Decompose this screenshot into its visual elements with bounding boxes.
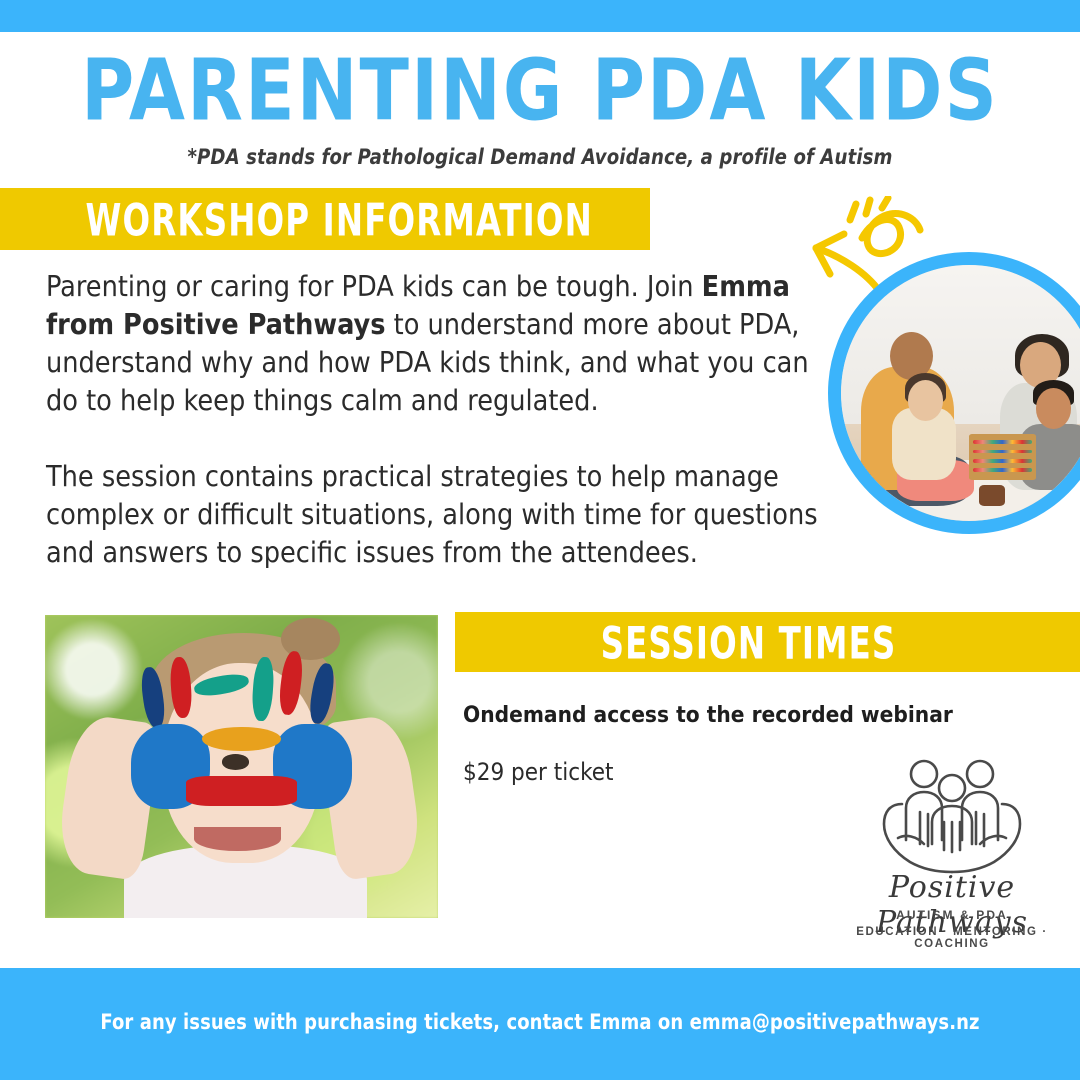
positive-pathways-logo: Positive Pathways AUTISM & PDA EDUCATION… xyxy=(832,752,1072,948)
child-painted-hands-photo xyxy=(45,615,438,918)
hands-holding-family-icon xyxy=(832,752,1072,880)
workshop-paragraph-1: Parenting or caring for PDA kids can be … xyxy=(46,268,836,420)
family-photo-circle xyxy=(828,252,1080,534)
family-photo-image xyxy=(841,265,1080,521)
workshop-description: Parenting or caring for PDA kids can be … xyxy=(46,268,836,610)
session-times-label: SESSION TIMES xyxy=(471,617,1065,669)
page-subtitle: *PDA stands for Pathological Demand Avoi… xyxy=(22,145,1059,169)
paragraph-1-lead: Parenting or caring for PDA kids can be … xyxy=(46,270,702,303)
photo-abacus-toy xyxy=(969,434,1036,480)
photo-animal-toy xyxy=(979,485,1005,505)
logo-tagline-secondary: EDUCATION · MENTORING · COACHING xyxy=(832,926,1072,950)
photo-child-eye xyxy=(222,754,250,769)
photo-boy-head xyxy=(1036,388,1072,429)
logo-tagline-primary: AUTISM & PDA xyxy=(832,908,1072,922)
session-access-note: Ondemand access to the recorded webinar xyxy=(463,702,1063,728)
workshop-information-label: WORKSHOP INFORMATION xyxy=(16,194,634,246)
photo-girl-head xyxy=(908,380,944,421)
photo-red-paint xyxy=(186,776,296,806)
top-accent-bar xyxy=(0,0,1080,32)
workshop-paragraph-2: The session contains practical strategie… xyxy=(46,458,836,572)
page-title: PARENTING PDA KIDS xyxy=(0,48,1080,133)
flyer-page: PARENTING PDA KIDS *PDA stands for Patho… xyxy=(0,0,1080,1080)
footer-contact-text: For any issues with purchasing tickets, … xyxy=(38,1010,1042,1035)
